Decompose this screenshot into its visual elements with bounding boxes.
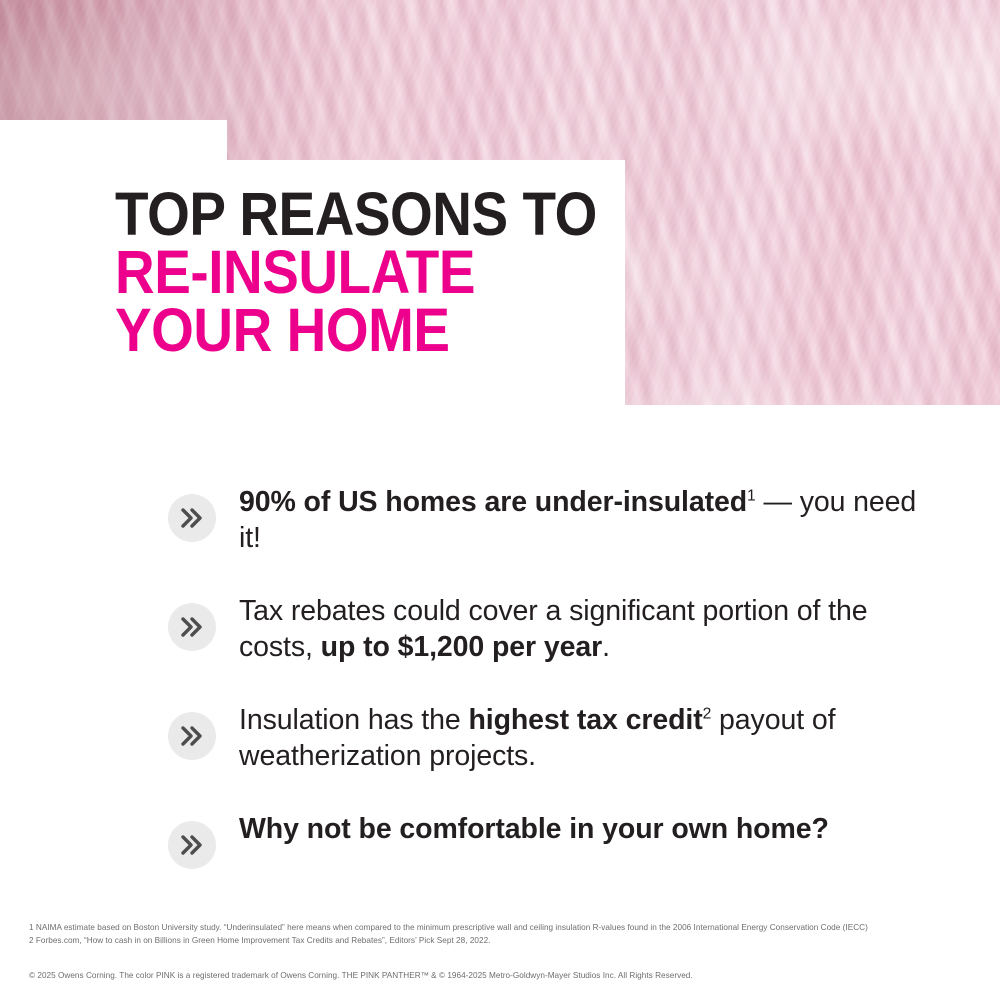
- list-item-text: Why not be comfortable in your own home?: [239, 809, 829, 847]
- list-item-text: Tax rebates could cover a significant po…: [239, 591, 928, 666]
- double-chevron-right-icon: [168, 603, 216, 651]
- headline-line-3: YOUR HOME: [115, 302, 619, 360]
- headline-line-2: RE-INSULATE: [115, 244, 619, 302]
- text-run: .: [602, 631, 610, 663]
- legal-block: 1 NAIMA estimate based on Boston Univers…: [29, 921, 974, 982]
- footnote-marker: 2: [703, 705, 712, 722]
- list-item: Why not be comfortable in your own home?: [168, 809, 928, 869]
- emphasis-text: up to $1,200 per year: [321, 631, 602, 663]
- copyright-notice: © 2025 Owens Corning. The color PINK is …: [29, 969, 974, 982]
- list-item: Insulation has the highest tax credit2 p…: [168, 700, 928, 775]
- list-item: 90% of US homes are under-insulated1 — y…: [168, 482, 928, 557]
- list-item-text: Insulation has the highest tax credit2 p…: [239, 700, 928, 775]
- double-chevron-right-icon: [168, 712, 216, 760]
- reasons-list: 90% of US homes are under-insulated1 — y…: [168, 482, 928, 869]
- footnote-marker: 1: [747, 488, 756, 505]
- double-chevron-right-icon: [168, 821, 216, 869]
- list-item-text: 90% of US homes are under-insulated1 — y…: [239, 482, 928, 557]
- list-item: Tax rebates could cover a significant po…: [168, 591, 928, 666]
- footnote-1: 1 NAIMA estimate based on Boston Univers…: [29, 921, 974, 934]
- text-run: Insulation has the: [239, 704, 468, 736]
- double-chevron-right-icon: [168, 494, 216, 542]
- footnote-2: 2 Forbes.com, “How to cash in on Billion…: [29, 934, 974, 947]
- emphasis-text: 90% of US homes are under-insulated: [239, 486, 747, 518]
- emphasis-text: highest tax credit: [468, 704, 702, 736]
- text-run: Why not be comfortable in your own home?: [239, 813, 829, 845]
- headline-line-1: TOP REASONS TO: [115, 186, 619, 244]
- infographic-poster: TOP REASONS TO RE-INSULATE YOUR HOME 90%…: [0, 0, 1000, 1000]
- page-title: TOP REASONS TO RE-INSULATE YOUR HOME: [115, 186, 675, 360]
